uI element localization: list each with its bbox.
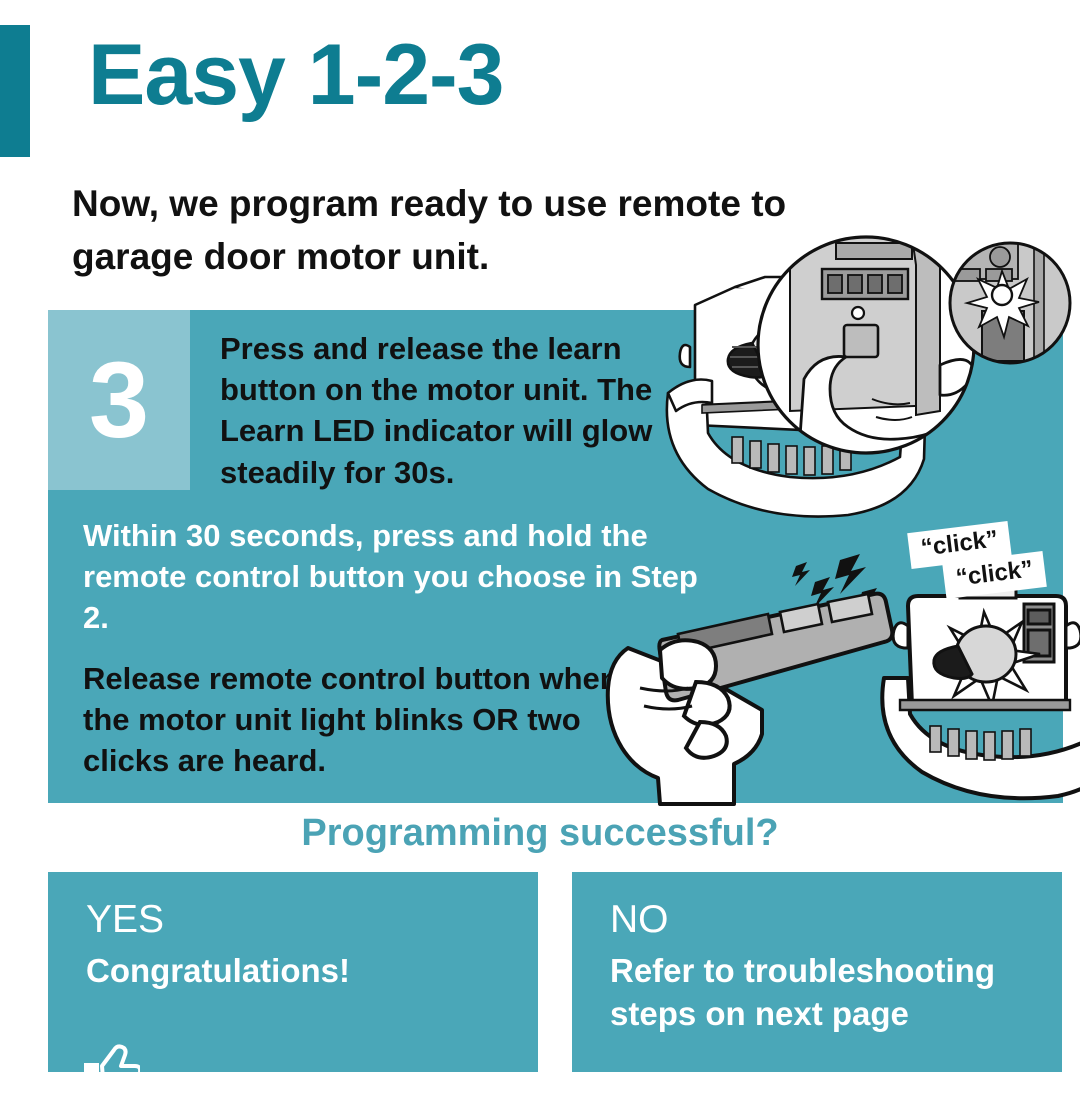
- learn-button: [844, 325, 878, 357]
- choice-no-body: Refer to troubleshooting steps on next p…: [610, 950, 1030, 1036]
- step-number: 3: [48, 310, 190, 490]
- choice-yes-head: YES: [86, 900, 164, 939]
- magnified-learn-button-callout: [758, 237, 974, 477]
- choice-no[interactable]: NO Refer to troubleshooting steps on nex…: [572, 872, 1062, 1072]
- header-accent-bar: [0, 25, 30, 157]
- step-paragraph-dark: Release remote control button when the m…: [83, 658, 653, 782]
- choice-yes-body: Congratulations!: [86, 950, 506, 993]
- step-instruction-text: Press and release the learn button on th…: [220, 328, 690, 493]
- hand-holding-remote: [608, 594, 893, 804]
- thumbs-up-icon: [84, 1044, 140, 1096]
- instruction-page: Easy 1-2-3 Now, we program ready to use …: [0, 0, 1080, 1080]
- learn-led-indicator: [852, 307, 864, 319]
- choice-no-head: NO: [610, 900, 669, 939]
- success-question: Programming successful?: [0, 812, 1080, 855]
- choice-yes[interactable]: YES Congratulations!: [48, 872, 538, 1072]
- step-number-badge: 3: [48, 310, 190, 490]
- motor-unit-front-view: [882, 582, 1080, 798]
- page-title: Easy 1-2-3: [88, 32, 504, 118]
- motor-unit-learn-button-illustration: [640, 225, 1080, 525]
